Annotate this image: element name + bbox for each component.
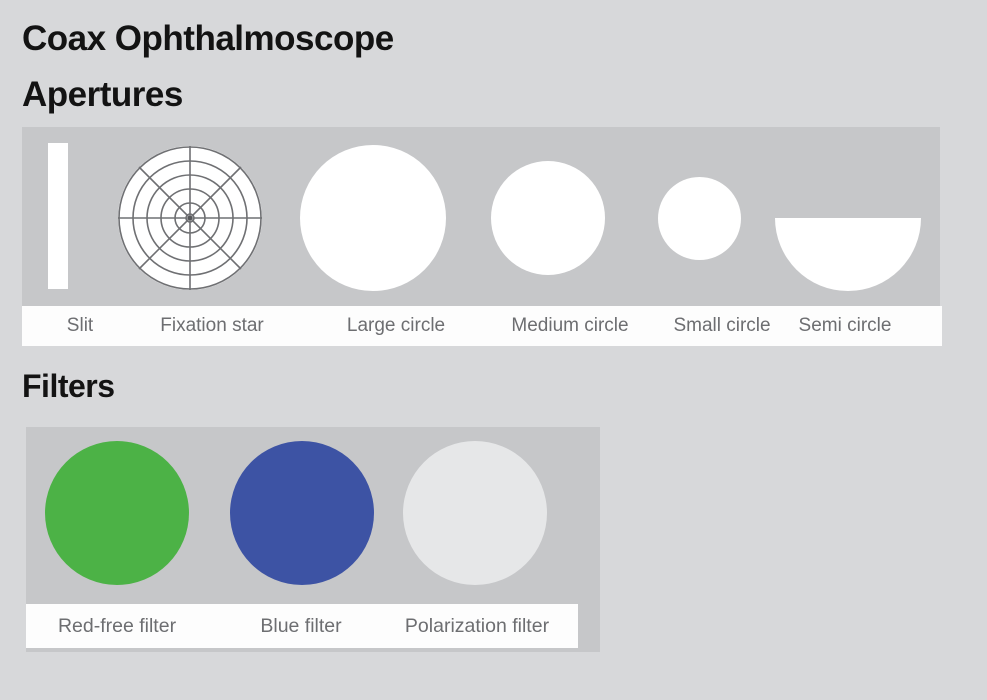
aperture-label-large-circle: Large circle xyxy=(347,315,445,337)
aperture-label-semi-circle: Semi circle xyxy=(799,315,892,337)
medium-circle-shape-icon xyxy=(491,161,605,275)
page-title-line-1: Coax Ophthalmoscope xyxy=(22,18,394,60)
filter-label-red-free: Red-free filter xyxy=(58,615,176,638)
filters-label-strip: Red-free filter Blue filter Polarization… xyxy=(26,604,578,648)
filter-label-blue: Blue filter xyxy=(260,615,341,638)
blue-filter-disc-icon xyxy=(230,441,374,585)
apertures-label-strip: Slit Fixation star Large circle Medium c… xyxy=(22,306,942,346)
large-circle-shape-icon xyxy=(300,145,446,291)
small-circle-shape-icon xyxy=(658,177,741,260)
polarization-filter-disc-icon xyxy=(403,441,547,585)
fixation-star-shape-icon xyxy=(117,145,263,291)
semi-circle-shape-icon xyxy=(775,218,921,291)
aperture-label-slit: Slit xyxy=(67,315,93,337)
aperture-label-small-circle: Small circle xyxy=(673,315,770,337)
page-title-line-2: Apertures xyxy=(22,74,183,116)
filter-label-polarization: Polarization filter xyxy=(405,615,549,638)
aperture-label-fixation-star: Fixation star xyxy=(160,315,263,337)
aperture-label-medium-circle: Medium circle xyxy=(511,315,628,337)
apertures-panel xyxy=(22,127,940,306)
slit-shape-icon xyxy=(48,143,68,289)
filters-section-heading: Filters xyxy=(22,366,115,406)
red-free-filter-disc-icon xyxy=(45,441,189,585)
